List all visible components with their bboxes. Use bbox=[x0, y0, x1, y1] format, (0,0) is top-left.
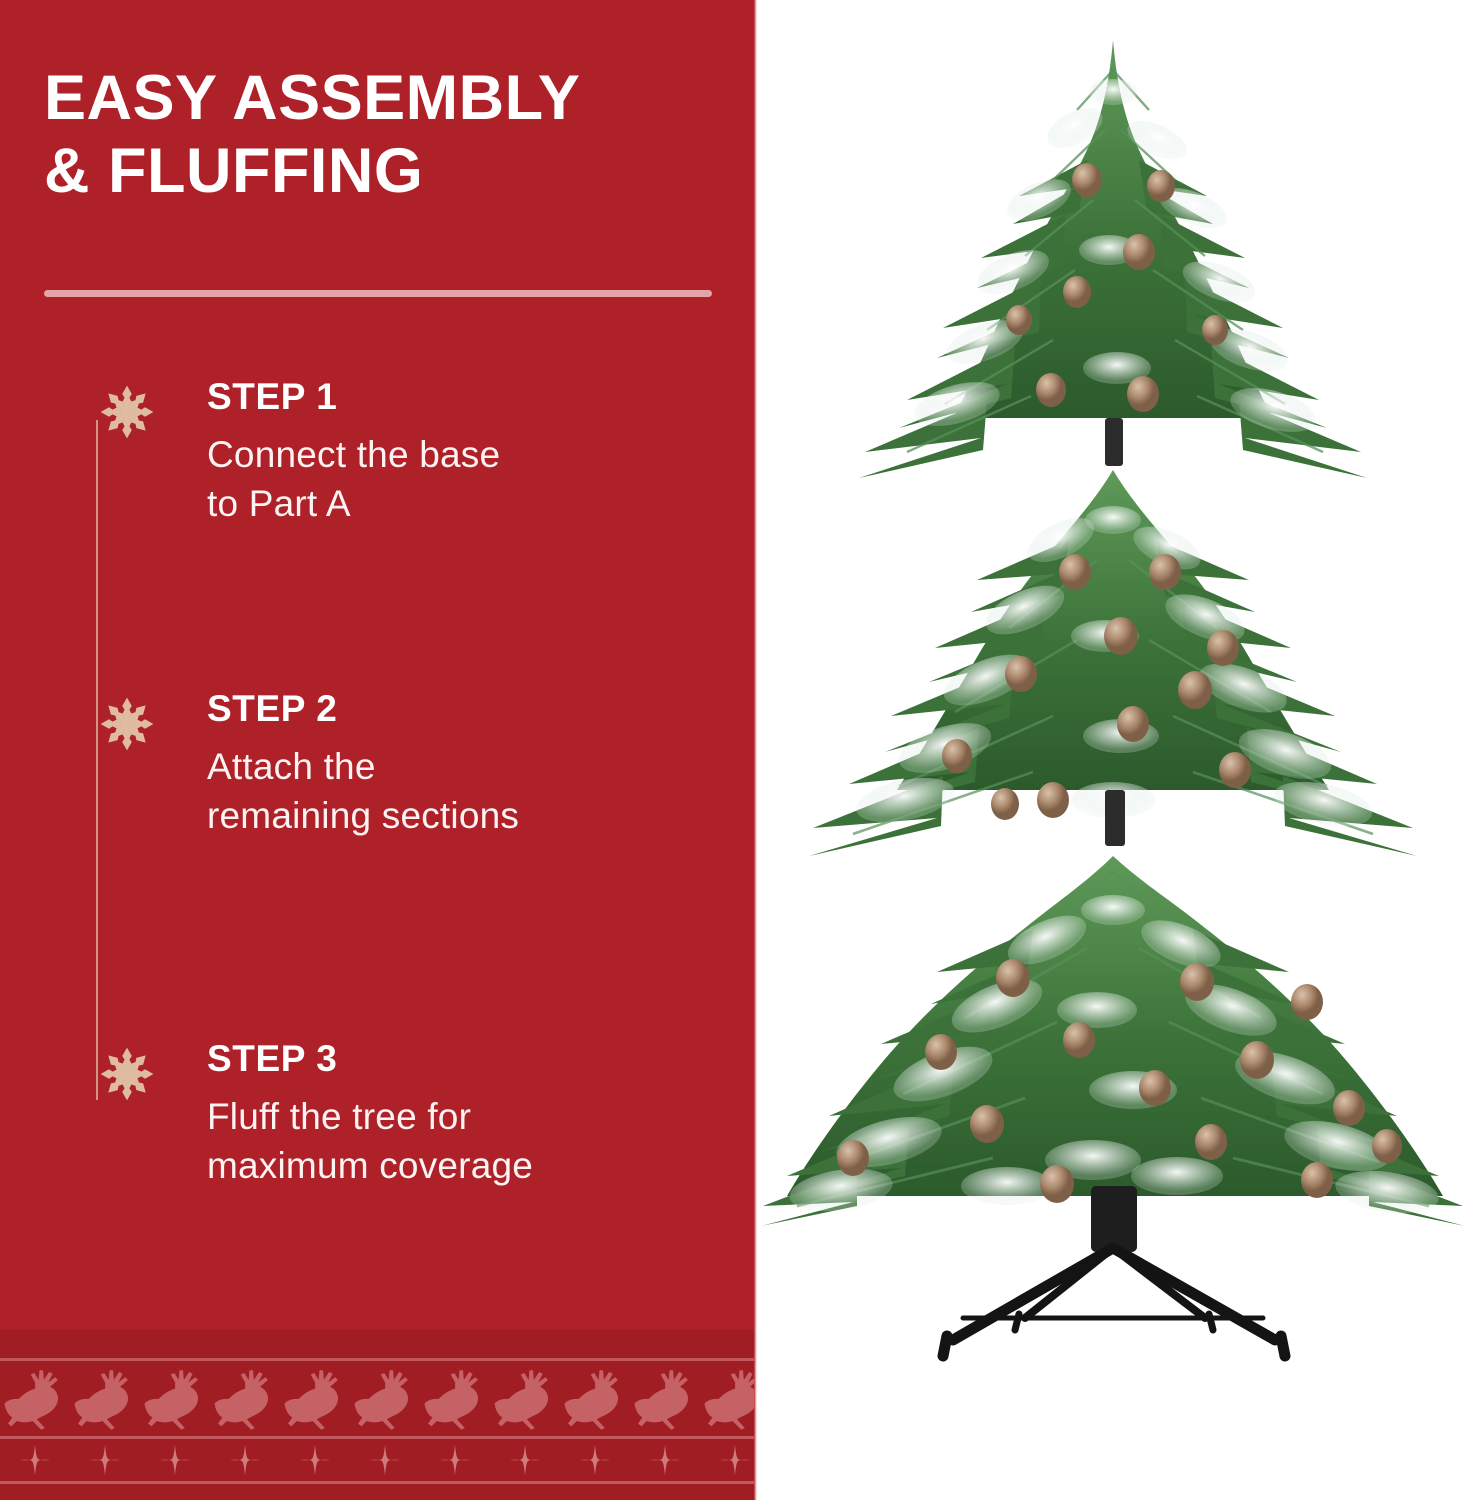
star-row bbox=[0, 1440, 757, 1480]
tree-middle-section bbox=[809, 470, 1417, 856]
border-rule-bottom bbox=[0, 1481, 757, 1484]
four-point-star-icon bbox=[0, 1443, 70, 1477]
step-label: STEP 1 bbox=[207, 378, 734, 417]
reindeer-icon bbox=[624, 1364, 694, 1436]
step-description-line-1: Attach the bbox=[207, 742, 734, 791]
four-point-star-icon bbox=[630, 1443, 700, 1477]
reindeer-icon bbox=[274, 1364, 344, 1436]
step-description: Fluff the tree for maximum coverage bbox=[207, 1092, 734, 1190]
reindeer-icon bbox=[204, 1364, 274, 1436]
reindeer-icon bbox=[64, 1364, 134, 1436]
list-item: STEP 1 Connect the base to Part A bbox=[44, 378, 734, 528]
reindeer-row bbox=[0, 1362, 757, 1436]
product-image-panel bbox=[757, 0, 1469, 1500]
list-item: STEP 3 Fluff the tree for maximum covera… bbox=[44, 1040, 734, 1190]
reindeer-icon bbox=[344, 1364, 414, 1436]
step-description-line-2: remaining sections bbox=[207, 791, 734, 840]
reindeer-icon bbox=[134, 1364, 204, 1436]
four-point-star-icon bbox=[280, 1443, 350, 1477]
snowflake-icon bbox=[97, 694, 157, 754]
border-rule-middle bbox=[0, 1436, 757, 1439]
reindeer-icon bbox=[414, 1364, 484, 1436]
product-infographic: EASY ASSEMBLY & FLUFFING bbox=[0, 0, 1469, 1500]
four-point-star-icon bbox=[700, 1443, 757, 1477]
tree-stand bbox=[943, 1186, 1285, 1356]
reindeer-icon bbox=[694, 1364, 757, 1436]
reindeer-icon bbox=[554, 1364, 624, 1436]
snowflake-icon bbox=[97, 1044, 157, 1104]
steps-list: STEP 1 Connect the base to Part A bbox=[0, 0, 757, 1500]
list-item: STEP 2 Attach the remaining sections bbox=[44, 690, 734, 840]
tree-bottom-section bbox=[761, 856, 1465, 1226]
christmas-tree-graphic bbox=[757, 0, 1469, 1500]
step-label: STEP 3 bbox=[207, 1040, 734, 1079]
four-point-star-icon bbox=[70, 1443, 140, 1477]
step-description-line-1: Connect the base bbox=[207, 430, 734, 479]
tree-top-section bbox=[859, 40, 1367, 478]
reindeer-icon bbox=[484, 1364, 554, 1436]
four-point-star-icon bbox=[420, 1443, 490, 1477]
step-description: Attach the remaining sections bbox=[207, 742, 734, 840]
christmas-tree-image bbox=[757, 0, 1469, 1500]
step-description-line-1: Fluff the tree for bbox=[207, 1092, 734, 1141]
four-point-star-icon bbox=[140, 1443, 210, 1477]
instructions-panel: EASY ASSEMBLY & FLUFFING bbox=[0, 0, 757, 1500]
four-point-star-icon bbox=[490, 1443, 560, 1477]
step-label: STEP 2 bbox=[207, 690, 734, 729]
four-point-star-icon bbox=[210, 1443, 280, 1477]
ornament-border bbox=[0, 1330, 757, 1500]
reindeer-icon bbox=[0, 1364, 64, 1436]
border-rule-top bbox=[0, 1358, 757, 1361]
snowflake-icon bbox=[97, 382, 157, 442]
step-description: Connect the base to Part A bbox=[207, 430, 734, 528]
step-description-line-2: to Part A bbox=[207, 479, 734, 528]
four-point-star-icon bbox=[350, 1443, 420, 1477]
four-point-star-icon bbox=[560, 1443, 630, 1477]
step-description-line-2: maximum coverage bbox=[207, 1141, 734, 1190]
